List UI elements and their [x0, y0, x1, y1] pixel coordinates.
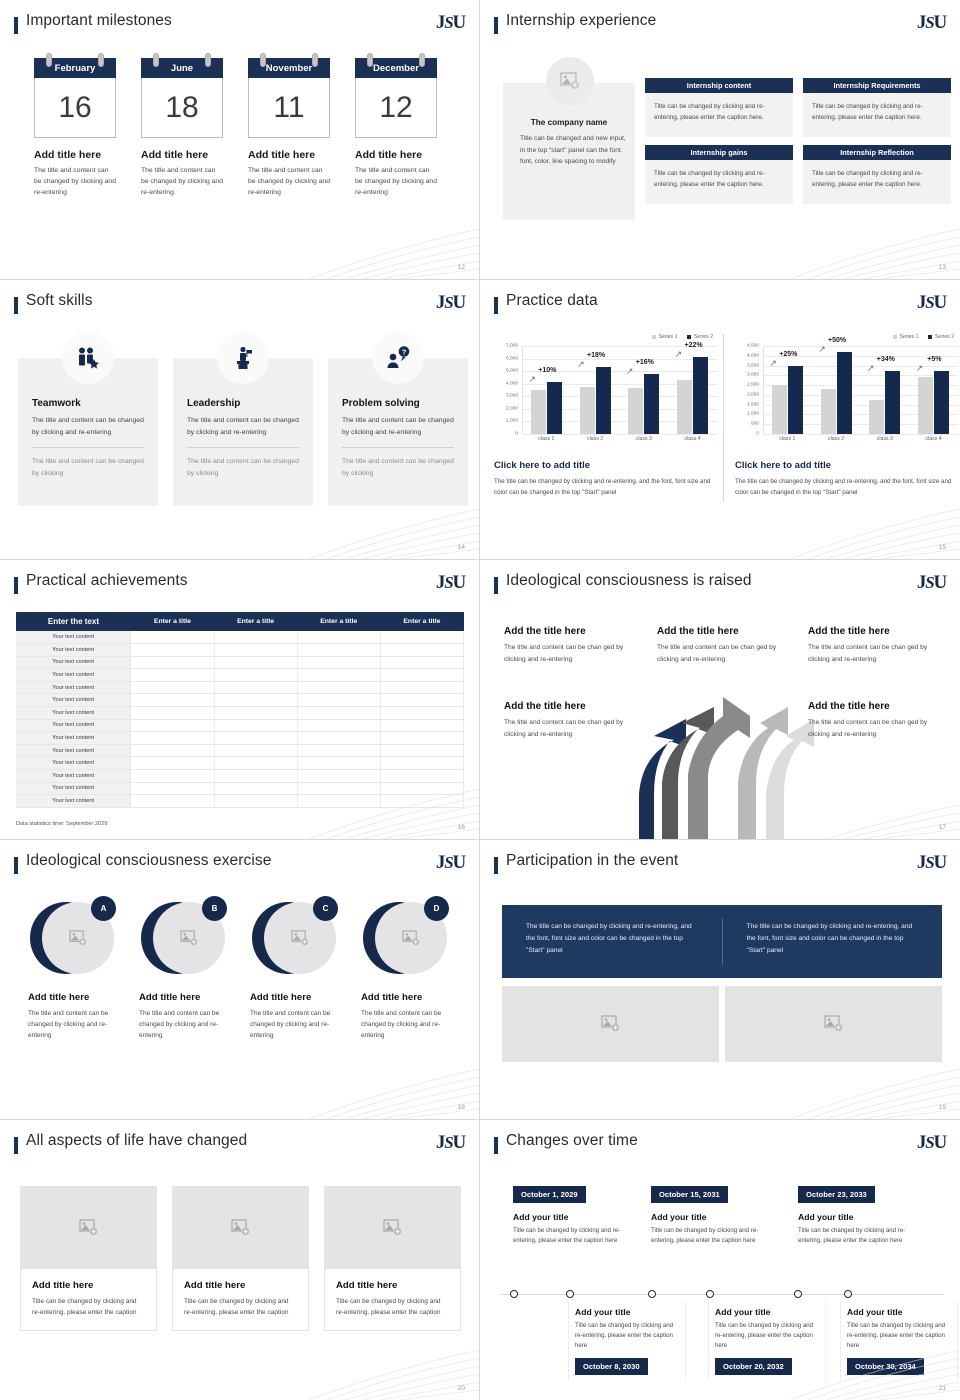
event-title: Add your title [798, 1212, 913, 1222]
table-cell[interactable] [214, 757, 297, 770]
table-cell-label[interactable]: Your text content [16, 669, 131, 682]
trend-arrow-icon: ↗ [916, 363, 924, 374]
list-item[interactable]: D Add title here The title and content c… [361, 896, 451, 1042]
slide-deck-grid: Important milestones JSU February 16 Add… [0, 0, 960, 1400]
y-tick-label: 3,000 [747, 373, 759, 378]
event-date-badge: October 30, 2034 [847, 1358, 924, 1375]
page-number: 12 [458, 264, 465, 271]
title-accent-bar [494, 1137, 498, 1154]
table-cell[interactable] [131, 795, 214, 808]
svg-text:?: ? [402, 348, 407, 357]
y-axis: 7,0006,0005,0004,0003,0002,0001,0000 [494, 346, 520, 434]
page-number: 18 [458, 1104, 465, 1111]
list-item[interactable]: C Add title here The title and content c… [250, 896, 340, 1042]
table-cell[interactable] [131, 744, 214, 757]
table-cell[interactable] [297, 744, 380, 757]
image-placeholder-icon[interactable] [546, 57, 594, 105]
list-item[interactable]: October 1, 2029 Add your title Title can… [513, 1184, 628, 1246]
table-cell[interactable] [131, 681, 214, 694]
card-body: Title can be changed by clicking and re-… [645, 93, 793, 137]
card-title: Add title here [336, 1280, 449, 1291]
item-title: Add title here [139, 992, 229, 1003]
slide-all-aspects-of-life-have-changed[interactable]: All aspects of life have changed JSU Add… [0, 1120, 480, 1400]
jsu-logo: JSU [917, 12, 946, 34]
table-cell-label[interactable]: Your text content [16, 681, 131, 694]
table-row[interactable]: Your text content [16, 770, 464, 783]
table-row[interactable]: Your text content [16, 744, 464, 757]
event-desc: Title can be changed by clicking and re-… [513, 1226, 628, 1246]
table-cell[interactable] [380, 644, 463, 657]
list-item[interactable]: December 12 Add title here The title and… [355, 58, 437, 199]
list-item[interactable]: Add the title here The title and content… [504, 701, 639, 740]
table-cell[interactable] [214, 770, 297, 783]
chart-block-left: Series 1 Series 2 7,0006,0005,0004,0003,… [494, 334, 719, 499]
table-header-row: Enter the textEnter a titleEnter a title… [16, 612, 464, 631]
table-cell[interactable] [380, 631, 463, 644]
calendar-ring-left [367, 53, 373, 67]
table-column-header[interactable]: Enter a title [214, 612, 297, 631]
y-tick-label: 6,000 [506, 356, 518, 361]
table-cell[interactable] [380, 770, 463, 783]
block-desc: The title and content can be chan ged by… [657, 642, 792, 665]
chart-legend: Series 1 Series 2 [494, 334, 719, 340]
list-item[interactable]: A Add title here The title and content c… [28, 896, 118, 1042]
jsu-logo: JSU [436, 572, 465, 594]
y-tick-label: 4,000 [747, 353, 759, 358]
x-tick-label: class 4 [676, 436, 710, 442]
list-item[interactable]: ? Problem solving The title and content … [328, 358, 468, 506]
page-title: Internship experience [506, 12, 656, 30]
jsu-logo: JSU [436, 292, 465, 314]
card-header: Internship content [645, 78, 793, 93]
table-cell-label[interactable]: Your text content [16, 694, 131, 707]
table-cell[interactable] [380, 719, 463, 732]
card-body: Title can be changed by clicking and re-… [803, 160, 951, 204]
table-cell-label[interactable]: Your text content [16, 707, 131, 720]
table-cell-label[interactable]: Your text content [16, 795, 131, 808]
table-cell[interactable] [297, 681, 380, 694]
title-accent-bar [14, 17, 18, 34]
bar-annotation: +10% [538, 367, 556, 374]
calendar-ring-right [98, 53, 104, 67]
table-cell[interactable] [297, 631, 380, 644]
table-cell[interactable] [131, 757, 214, 770]
page-title: Practical achievements [26, 572, 188, 590]
table-cell[interactable] [297, 732, 380, 745]
image-placeholder-icon[interactable] [21, 1187, 156, 1269]
jsu-logo: JSU [436, 1132, 465, 1154]
list-item[interactable]: Add the title here The title and content… [504, 626, 639, 665]
list-item[interactable]: Add title here Title can be changed by c… [172, 1186, 309, 1331]
list-item[interactable]: Internship gains Title can be changed by… [645, 145, 793, 204]
slide-header: Changes over time JSU [494, 1134, 946, 1164]
bar-annotation: +25% [779, 351, 797, 358]
skill-title: Teamwork [32, 398, 144, 409]
table-cell[interactable] [380, 694, 463, 707]
table-column-header[interactable]: Enter the text [16, 612, 131, 631]
table-row[interactable]: Your text content [16, 757, 464, 770]
table-cell[interactable] [214, 631, 297, 644]
table-row[interactable]: Your text content [16, 694, 464, 707]
table-cell[interactable] [297, 669, 380, 682]
card-body: Title can be changed by clicking and re-… [803, 93, 951, 137]
timeline-node[interactable] [794, 1290, 802, 1298]
card-desc: Title can be changed by clicking and re-… [32, 1296, 145, 1318]
slide-header: Practice data JSU [494, 294, 946, 324]
trend-arrow-icon: ↗ [577, 359, 585, 370]
table-cell-label[interactable]: Your text content [16, 644, 131, 657]
event-date-badge: October 20, 2032 [715, 1358, 792, 1375]
chart-block-right: Series 1 Series 2 4,5004,0003,5003,0002,… [735, 334, 960, 499]
table-row[interactable]: Your text content [16, 732, 464, 745]
list-item[interactable]: Add the title here The title and content… [808, 626, 943, 665]
wave-decoration [249, 189, 479, 279]
table-cell[interactable] [214, 744, 297, 757]
trend-arrow-icon: ↗ [867, 363, 875, 374]
table-cell[interactable] [297, 656, 380, 669]
table-cell[interactable] [380, 757, 463, 770]
milestone-desc: The title and content can be changed by … [248, 165, 330, 199]
skill-desc-secondary: The title and content can be changed by … [342, 456, 454, 479]
calendar-ring-right [419, 53, 425, 67]
bar-series-1 [580, 387, 595, 434]
table-cell[interactable] [214, 782, 297, 795]
skill-desc: The title and content can be changed by … [342, 415, 454, 438]
slide-practice-data[interactable]: Practice data JSU Series 1 Series 2 7,00… [480, 280, 960, 560]
legend-label: Series 1 [899, 334, 918, 340]
card-desc: Title can be changed by clicking and re-… [336, 1296, 449, 1318]
event-title: Add your title [651, 1212, 766, 1222]
banner-text-left: The title can be changed by clicking and… [502, 905, 722, 978]
chart-legend: Series 1 Series 2 [735, 334, 960, 340]
table-cell[interactable] [214, 719, 297, 732]
divider [342, 447, 454, 448]
jsu-logo: JSU [917, 1132, 946, 1154]
achievements-table[interactable]: Enter the textEnter a titleEnter a title… [16, 612, 464, 808]
skill-desc: The title and content can be changed by … [32, 415, 144, 438]
block-desc: The title and content can be chan ged by… [504, 717, 639, 740]
table-cell-label[interactable]: Your text content [16, 770, 131, 783]
list-item[interactable]: November 11 Add title here The title and… [248, 58, 330, 199]
bar-annotation: +22% [684, 342, 702, 349]
item-desc: The title and content can be changed by … [361, 1008, 451, 1042]
table-cell[interactable] [214, 732, 297, 745]
list-item[interactable]: B Add title here The title and content c… [139, 896, 229, 1042]
table-cell[interactable] [297, 694, 380, 707]
bar-series-2 [837, 352, 852, 434]
divider [32, 447, 144, 448]
list-item[interactable]: October 23, 2033 Add your title Title ca… [798, 1184, 913, 1246]
divider [187, 447, 299, 448]
x-axis: class 1class 2class 3class 4 [522, 436, 717, 442]
slide-participation-in-the-event[interactable]: Participation in the event JSU The title… [480, 840, 960, 1120]
bar-group: +10%↗ [529, 382, 563, 434]
block-desc: The title and content can be chan ged by… [808, 717, 943, 740]
page-number: 13 [939, 264, 946, 271]
y-tick-label: 1,000 [506, 419, 518, 424]
block-title: Add the title here [657, 626, 792, 637]
timeline-node[interactable] [706, 1290, 714, 1298]
event-desc: Title can be changed by clicking and re-… [798, 1226, 913, 1246]
table-cell[interactable] [297, 782, 380, 795]
list-item[interactable]: Add your title Title can be changed by c… [708, 1301, 826, 1380]
problem-solving-icon: ? [372, 332, 424, 384]
list-item[interactable]: Add the title here The title and content… [657, 626, 792, 665]
card-body: Title can be changed by clicking and re-… [645, 160, 793, 204]
x-tick-label: class 2 [819, 436, 853, 442]
table-row[interactable]: Your text content [16, 681, 464, 694]
list-item[interactable]: Leadership The title and content can be … [173, 358, 313, 506]
list-item[interactable]: Add title here Title can be changed by c… [20, 1186, 157, 1331]
table-row[interactable]: Your text content [16, 795, 464, 808]
x-tick-label: class 2 [578, 436, 612, 442]
table-cell[interactable] [131, 694, 214, 707]
list-item[interactable]: October 15, 2031 Add your title Title ca… [651, 1184, 766, 1246]
y-tick-label: 2,500 [747, 383, 759, 388]
bar-group: +22%↗ [676, 357, 710, 434]
table-cell[interactable] [380, 669, 463, 682]
leadership-icon [217, 332, 269, 384]
table-row[interactable]: Your text content [16, 707, 464, 720]
table-cell[interactable] [380, 744, 463, 757]
y-tick-label: 500 [751, 422, 759, 427]
slide-header: Ideological consciousness is raised JSU [494, 574, 946, 604]
list-item[interactable]: Add title here Title can be changed by c… [324, 1186, 461, 1331]
image-placeholder-icon[interactable] [725, 986, 942, 1062]
block-title: Add the title here [808, 626, 943, 637]
bar-group: +16%↗ [627, 374, 661, 434]
page-number: 20 [458, 1385, 465, 1392]
title-accent-bar [494, 17, 498, 34]
divider [723, 334, 724, 502]
page-title: All aspects of life have changed [26, 1132, 247, 1150]
slide-practical-achievements[interactable]: Practical achievements JSU Enter the tex… [0, 560, 480, 840]
event-date-badge: October 8, 2030 [575, 1358, 648, 1375]
page-number: 15 [939, 544, 946, 551]
table-cell[interactable] [297, 644, 380, 657]
bar-series-2 [934, 371, 949, 434]
table-cell[interactable] [297, 707, 380, 720]
skill-desc: The title and content can be changed by … [187, 415, 299, 438]
table-cell[interactable] [380, 681, 463, 694]
slide-header: Internship experience JSU [494, 14, 946, 44]
calendar-ring-left [153, 53, 159, 67]
table-cell[interactable] [131, 782, 214, 795]
trend-arrow-icon: ↗ [675, 349, 683, 360]
table-cell[interactable] [214, 694, 297, 707]
table-cell[interactable] [131, 656, 214, 669]
badge-label: A [91, 896, 116, 921]
page-title: Changes over time [506, 1132, 638, 1150]
table-row[interactable]: Your text content [16, 782, 464, 795]
calendar-day: 16 [34, 78, 116, 138]
x-tick-label: class 3 [868, 436, 902, 442]
chart-desc: The title can be changed by clicking and… [494, 476, 719, 499]
image-placeholder-icon[interactable] [173, 1187, 308, 1269]
calendar-icon: June 18 [141, 58, 223, 138]
x-tick-label: class 3 [627, 436, 661, 442]
banner-text-right: The title can be changed by clicking and… [723, 905, 943, 978]
milestone-title: Add title here [248, 149, 330, 161]
table-column-header[interactable]: Enter a title [131, 612, 214, 631]
table-cell-label[interactable]: Your text content [16, 656, 131, 669]
calendar-day: 18 [141, 78, 223, 138]
chart-title: Click here to add title [735, 460, 960, 471]
bar-series-2 [885, 371, 900, 434]
slide-soft-skills[interactable]: Soft skills JSU Teamwork The title and c… [0, 280, 480, 560]
table-cell[interactable] [297, 795, 380, 808]
card-title: Add title here [184, 1280, 297, 1291]
table-cell[interactable] [214, 795, 297, 808]
event-date-badge: October 15, 2031 [651, 1186, 728, 1203]
bars-area: +25%↗+50%↗+34%↗+5%↗ [763, 346, 958, 434]
card-header: Internship Requirements [803, 78, 951, 93]
event-date-badge: October 23, 2033 [798, 1186, 875, 1203]
table-cell-label[interactable]: Your text content [16, 719, 131, 732]
y-tick-label: 0 [515, 432, 518, 437]
table-cell[interactable] [214, 681, 297, 694]
timeline-node[interactable] [648, 1290, 656, 1298]
page-title: Soft skills [26, 292, 93, 310]
calendar-day: 12 [355, 78, 437, 138]
table-row[interactable]: Your text content [16, 631, 464, 644]
table-cell[interactable] [131, 644, 214, 657]
milestone-desc: The title and content can be changed by … [355, 165, 437, 199]
table-cell[interactable] [131, 669, 214, 682]
card-header: Internship Reflection [803, 145, 951, 160]
page-number: 19 [939, 1104, 946, 1111]
table-cell[interactable] [131, 631, 214, 644]
trend-arrow-icon: ↗ [769, 358, 777, 369]
jsu-logo: JSU [436, 12, 465, 34]
bar-series-2 [644, 374, 659, 434]
table-row[interactable]: Your text content [16, 644, 464, 657]
table-cell[interactable] [380, 732, 463, 745]
y-tick-label: 4,500 [747, 344, 759, 349]
table-cell-label[interactable]: Your text content [16, 757, 131, 770]
title-accent-bar [14, 297, 18, 314]
timeline-node[interactable] [844, 1290, 852, 1298]
image-placeholder-icon[interactable] [325, 1187, 460, 1269]
company-desc: Title can be changed and new input, in t… [520, 133, 628, 168]
event-desc: Title can be changed by clicking and re-… [575, 1321, 679, 1351]
y-tick-label: 4,000 [506, 381, 518, 386]
milestone-desc: The title and content can be changed by … [34, 165, 116, 199]
page-title: Participation in the event [506, 852, 678, 870]
list-item[interactable]: Internship Reflection Title can be chang… [803, 145, 951, 204]
table-cell[interactable] [297, 719, 380, 732]
table-cell[interactable] [380, 707, 463, 720]
calendar-ring-left [260, 53, 266, 67]
internship-card-grid: Internship content Title can be changed … [645, 78, 951, 204]
slide-important-milestones[interactable]: Important milestones JSU February 16 Add… [0, 0, 480, 280]
table-cell-label[interactable]: Your text content [16, 744, 131, 757]
timeline-node[interactable] [566, 1290, 574, 1298]
table-cell[interactable] [380, 656, 463, 669]
list-item[interactable]: Add your title Title can be changed by c… [568, 1301, 686, 1380]
table-cell[interactable] [297, 770, 380, 783]
list-item[interactable]: June 18 Add title here The title and con… [141, 58, 223, 199]
table-cell[interactable] [214, 669, 297, 682]
calendar-day: 11 [248, 78, 330, 138]
y-tick-label: 2,000 [506, 406, 518, 411]
page-number: 14 [458, 544, 465, 551]
slide-header: Participation in the event JSU [494, 854, 946, 884]
badge-label: C [313, 896, 338, 921]
event-title: Add your title [513, 1212, 628, 1222]
jsu-logo: JSU [917, 852, 946, 874]
jsu-logo: JSU [917, 292, 946, 314]
gridline [764, 434, 958, 435]
jsu-logo: JSU [436, 852, 465, 874]
page-title: Ideological consciousness is raised [506, 572, 752, 590]
list-item[interactable]: Internship content Title can be changed … [645, 78, 793, 137]
table-cell-label[interactable]: Your text content [16, 732, 131, 745]
slide-header: Important milestones JSU [14, 14, 465, 44]
page-title: Practice data [506, 292, 598, 310]
table-cell[interactable] [214, 644, 297, 657]
bar-annotation: +18% [587, 352, 605, 359]
title-accent-bar [494, 297, 498, 314]
image-placeholder-icon[interactable] [502, 986, 719, 1062]
calendar-icon: February 16 [34, 58, 116, 138]
table-row[interactable]: Your text content [16, 656, 464, 669]
event-image-row [502, 986, 942, 1062]
bar-series-2 [596, 367, 611, 434]
table-cell[interactable] [380, 795, 463, 808]
slide-header: Soft skills JSU [14, 294, 465, 324]
item-title: Add title here [361, 992, 451, 1003]
list-item[interactable]: Teamwork The title and content can be ch… [18, 358, 158, 506]
skill-desc-secondary: The title and content can be changed by … [32, 456, 144, 479]
list-item[interactable]: Add the title here The title and content… [808, 701, 943, 740]
bar-group: +25%↗ [770, 366, 804, 434]
table-cell[interactable] [380, 782, 463, 795]
y-tick-label: 0 [756, 432, 759, 437]
item-desc: The title and content can be changed by … [28, 1008, 118, 1042]
table-row[interactable]: Your text content [16, 719, 464, 732]
event-desc: Title can be changed by clicking and re-… [847, 1321, 951, 1351]
table-cell[interactable] [131, 707, 214, 720]
slide-internship-experience[interactable]: Internship experience JSU The company na… [480, 0, 960, 280]
table-column-header[interactable]: Enter a title [297, 612, 380, 631]
table-cell[interactable] [214, 707, 297, 720]
table-column-header[interactable]: Enter a title [380, 612, 463, 631]
chart-title: Click here to add title [494, 460, 719, 471]
timeline-node[interactable] [510, 1290, 518, 1298]
slide-ideological-consciousness-raised[interactable]: Ideological consciousness is raised JSU … [480, 560, 960, 840]
list-item[interactable]: Add your title Title can be changed by c… [840, 1301, 958, 1380]
table-row[interactable]: Your text content [16, 669, 464, 682]
table-cell[interactable] [214, 656, 297, 669]
legend-label: Series 1 [658, 334, 677, 340]
table-cell[interactable] [131, 770, 214, 783]
table-cell[interactable] [297, 757, 380, 770]
y-tick-label: 1,500 [747, 402, 759, 407]
bar-series-2 [693, 357, 708, 434]
table-cell-label[interactable]: Your text content [16, 782, 131, 795]
list-item[interactable]: Internship Requirements Title can be cha… [803, 78, 951, 137]
slide-ideological-consciousness-exercise[interactable]: Ideological consciousness exercise JSU A… [0, 840, 480, 1120]
list-item[interactable]: February 16 Add title here The title and… [34, 58, 116, 199]
bar-chart: 7,0006,0005,0004,0003,0002,0001,0000 +10… [494, 346, 719, 446]
page-number: 16 [458, 824, 465, 831]
y-tick-label: 3,500 [747, 363, 759, 368]
table-cell-label[interactable]: Your text content [16, 631, 131, 644]
slide-changes-over-time[interactable]: Changes over time JSU October 1, 2029 Ad… [480, 1120, 960, 1400]
table-cell[interactable] [131, 732, 214, 745]
table-cell[interactable] [131, 719, 214, 732]
